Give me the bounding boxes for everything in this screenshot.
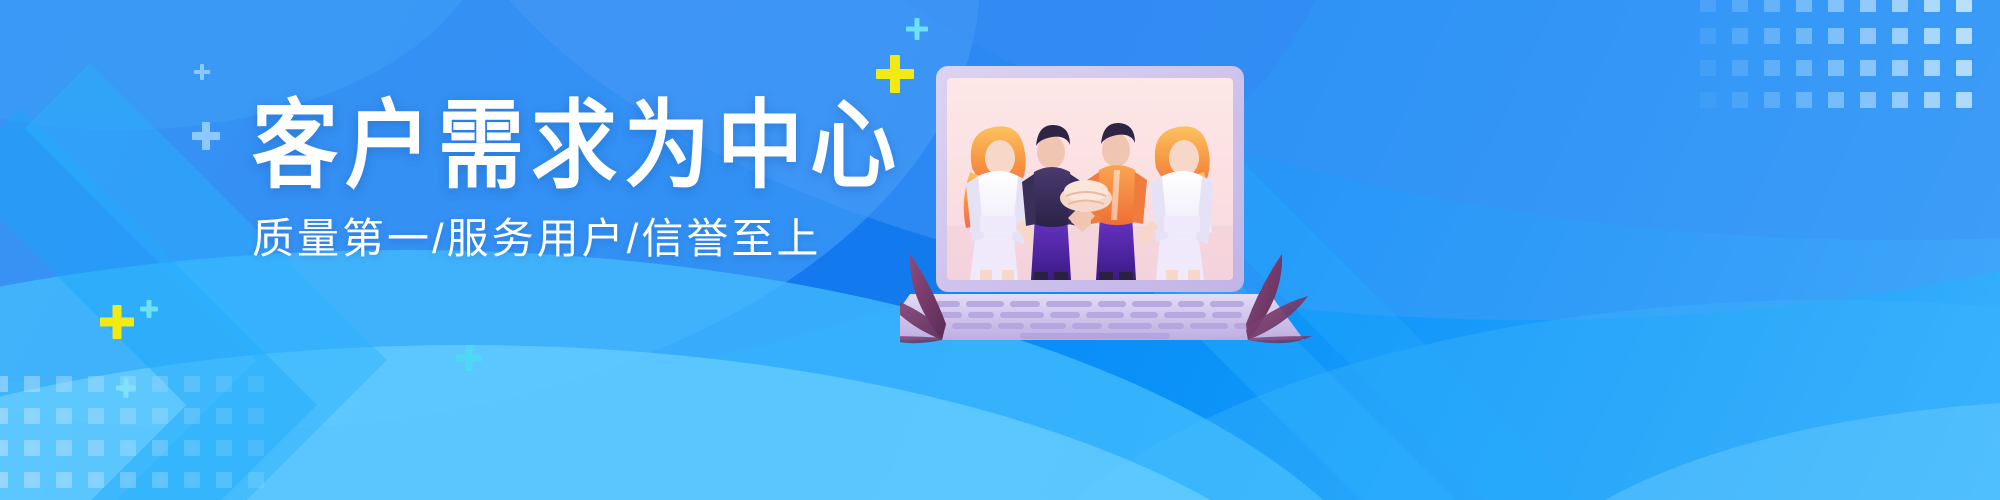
plus-white-tl2-icon: [194, 64, 210, 80]
plus-white-tl-icon: [192, 122, 220, 150]
square-grid-top-right: [1700, 0, 2000, 116]
square-grid-bottom-left: [0, 376, 292, 500]
promo-banner: 客户需求为中心 质量第一/服务用户/信誉至上: [0, 0, 2000, 500]
bg-wave-cyan-light: [0, 345, 1390, 500]
page-subtitle: 质量第一/服务用户/信誉至上: [252, 216, 903, 262]
laptop-illustration: [900, 48, 1320, 348]
page-title: 客户需求为中心: [252, 96, 903, 197]
plus-yellow-bottom-icon: [100, 305, 134, 339]
plus-cyan-small-icon: [906, 18, 928, 40]
laptop-svg: [900, 48, 1320, 348]
plus-cyan-mid-icon: [456, 345, 482, 371]
plus-cyan-bl-icon: [116, 378, 136, 398]
plus-cyan-bottom-icon: [140, 300, 158, 318]
bg-wave-far-right: [1500, 400, 2000, 500]
copy-block: 客户需求为中心 质量第一/服务用户/信誉至上: [252, 96, 903, 262]
